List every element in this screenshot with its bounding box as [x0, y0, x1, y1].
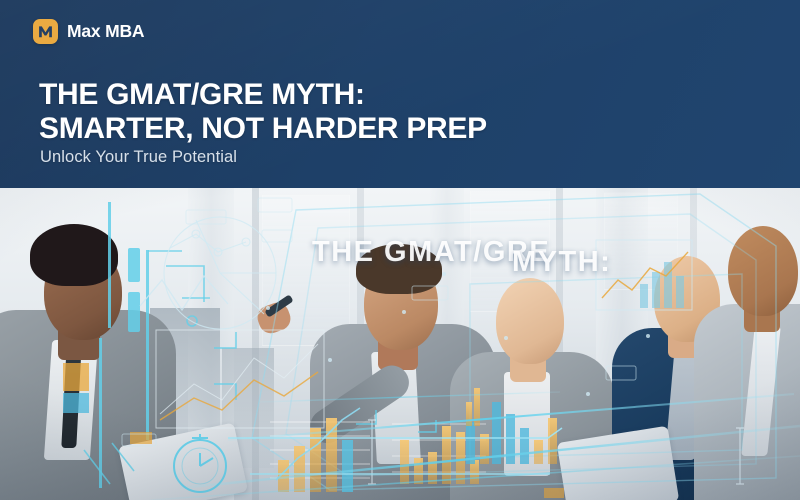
header-band: Max MBA THE GMAT/GRE MYTH: SMARTER, NOT … — [0, 0, 800, 188]
headline-line-2: SMARTER, NOT HARDER PREP — [39, 112, 759, 146]
page-subtitle: Unlock Your True Potential — [40, 148, 237, 167]
person-5 — [700, 188, 800, 500]
glass-overlay-text-2: MYTH: — [512, 246, 611, 279]
person-3-blouse — [504, 372, 550, 476]
page-title: THE GMAT/GRE MYTH: SMARTER, NOT HARDER P… — [39, 78, 759, 146]
max-mba-logo-mark-icon — [33, 19, 58, 44]
person-3-head — [496, 278, 564, 364]
person-5-head — [728, 226, 798, 316]
brand-name: Max MBA — [67, 23, 144, 41]
hero-photo: THE GMAT/GRE MYTH: STRATEGY — [0, 188, 800, 500]
person-1-hair — [30, 224, 118, 286]
brand-logo[interactable]: Max MBA — [33, 19, 144, 44]
headline-line-1: THE GMAT/GRE MYTH: — [39, 78, 365, 111]
slide-root: Max MBA THE GMAT/GRE MYTH: SMARTER, NOT … — [0, 0, 800, 500]
